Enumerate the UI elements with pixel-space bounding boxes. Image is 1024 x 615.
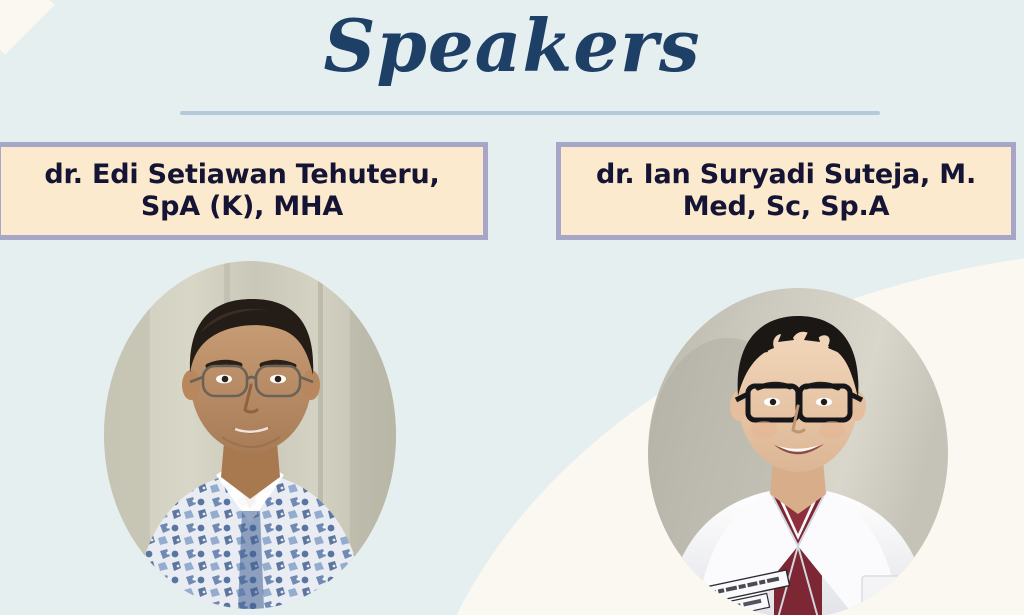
speaker-name-left-line2: SpA (K), MHA	[141, 191, 343, 222]
title-divider	[180, 111, 880, 115]
speaker-name-left-line1: dr. Edi Setiawan Tehuteru,	[44, 159, 439, 190]
speaker-photo-right	[648, 288, 948, 615]
speaker-name-right-line1: dr. Ian Suryadi Suteja, M.	[596, 159, 976, 190]
speaker-name-plate-right: dr. Ian Suryadi Suteja, M. Med, Sc, Sp.A	[556, 142, 1016, 240]
speaker-name-plate-left: dr. Edi Setiawan Tehuteru, SpA (K), MHA	[0, 142, 488, 240]
speaker-photo-left	[104, 261, 396, 609]
speaker-name-right-line2: Med, Sc, Sp.A	[683, 191, 890, 222]
speaker-name-left: dr. Edi Setiawan Tehuteru, SpA (K), MHA	[44, 159, 439, 223]
page-title: Speakers	[0, 6, 1024, 85]
slide-canvas: Speakers dr. Edi Setiawan Tehuteru, SpA …	[0, 0, 1024, 615]
speaker-name-right: dr. Ian Suryadi Suteja, M. Med, Sc, Sp.A	[596, 159, 976, 223]
